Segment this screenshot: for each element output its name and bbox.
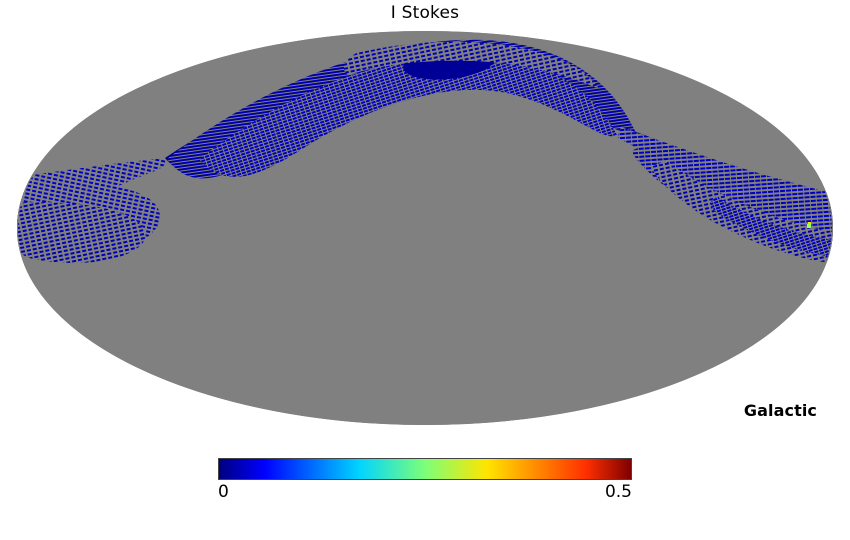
hotspot-pixel-high-value (807, 224, 811, 228)
colorbar-max-tick-label: 0.5 (605, 482, 632, 502)
page-title: I Stokes (0, 3, 850, 23)
colorbar-gradient[interactable] (218, 458, 632, 480)
sky-map-figure: I Stokes (0, 0, 850, 540)
sky-sphere (17, 31, 833, 425)
mollweide-sky-projection[interactable] (17, 31, 833, 425)
colorbar[interactable]: 0 0.5 (218, 458, 632, 504)
colorbar-min-tick-label: 0 (218, 482, 229, 502)
hotspot-pixel-mid-value (808, 222, 811, 224)
projection-canvas (17, 31, 833, 425)
coordinate-system-label: Galactic (744, 401, 817, 420)
